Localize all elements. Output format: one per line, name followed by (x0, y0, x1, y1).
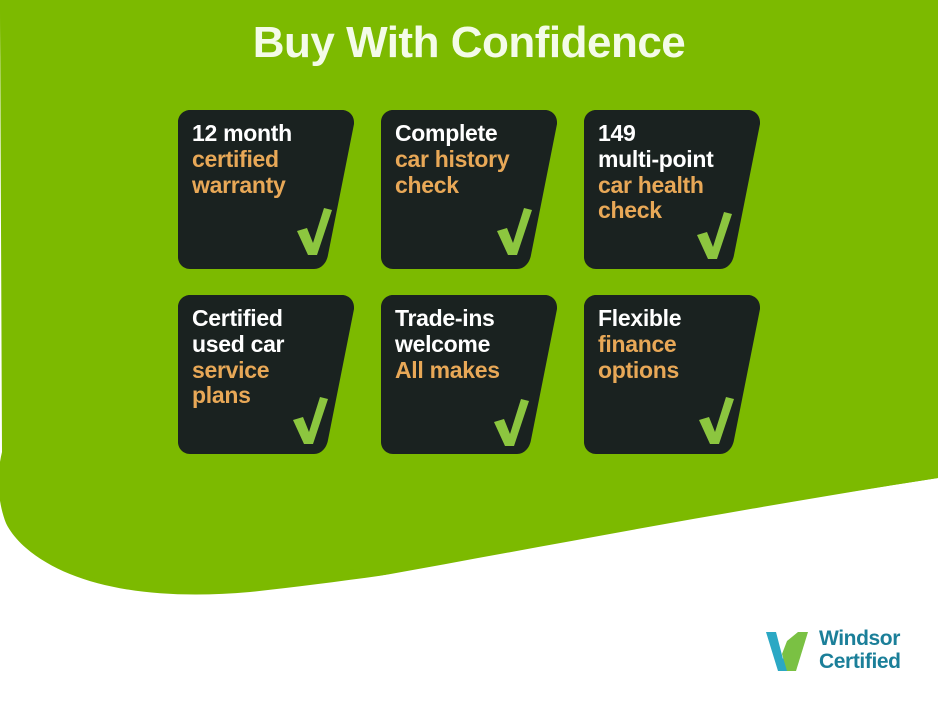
feature-card-grid: 12 month certified warranty Complete car… (178, 110, 758, 480)
card-line: Flexible (598, 306, 742, 332)
card-row-top: 12 month certified warranty Complete car… (178, 110, 758, 269)
card-row-bottom: Certified used car service plans Trade-i… (178, 295, 758, 454)
card-line: certified (192, 147, 336, 173)
card-line: service (192, 358, 336, 384)
check-icon (294, 206, 334, 256)
logo-wordmark: Windsor Certified (819, 628, 901, 673)
feature-card-certified-warranty[interactable]: 12 month certified warranty (178, 110, 354, 269)
check-icon (491, 397, 531, 447)
feature-card-multi-point-check[interactable]: 149 multi-point car health check (584, 110, 760, 269)
card-text-block: Flexible finance options (598, 306, 742, 383)
card-line: used car (192, 332, 336, 358)
card-line: Trade-ins (395, 306, 539, 332)
page-title: Buy With Confidence (0, 18, 938, 69)
card-line: check (395, 173, 539, 199)
feature-card-car-history-check[interactable]: Complete car history check (381, 110, 557, 269)
feature-card-finance-options[interactable]: Flexible finance options (584, 295, 760, 454)
card-line: All makes (395, 358, 539, 384)
card-line: Complete (395, 121, 539, 147)
card-line: finance (598, 332, 742, 358)
check-icon (694, 210, 734, 260)
card-text-block: Certified used car service plans (192, 306, 336, 409)
card-text-block: 149 multi-point car health check (598, 121, 742, 224)
card-text-block: 12 month certified warranty (192, 121, 336, 198)
card-line: Certified (192, 306, 336, 332)
card-line: warranty (192, 173, 336, 199)
card-text-block: Trade-ins welcome All makes (395, 306, 539, 383)
windsor-w-icon (764, 630, 810, 672)
card-line: 149 (598, 121, 742, 147)
card-line: options (598, 358, 742, 384)
card-line: 12 month (192, 121, 336, 147)
check-icon (290, 395, 330, 445)
promo-banner: Buy With Confidence 12 month certified w… (0, 0, 938, 704)
card-line: welcome (395, 332, 539, 358)
feature-card-service-plans[interactable]: Certified used car service plans (178, 295, 354, 454)
card-text-block: Complete car history check (395, 121, 539, 198)
check-icon (696, 395, 736, 445)
card-line: car health (598, 173, 742, 199)
feature-card-trade-ins[interactable]: Trade-ins welcome All makes (381, 295, 557, 454)
windsor-certified-logo[interactable]: Windsor Certified (764, 628, 901, 673)
check-icon (494, 206, 534, 256)
logo-line-1: Windsor (819, 628, 901, 651)
logo-line-2: Certified (819, 651, 901, 674)
card-line: car history (395, 147, 539, 173)
card-line: multi-point (598, 147, 742, 173)
